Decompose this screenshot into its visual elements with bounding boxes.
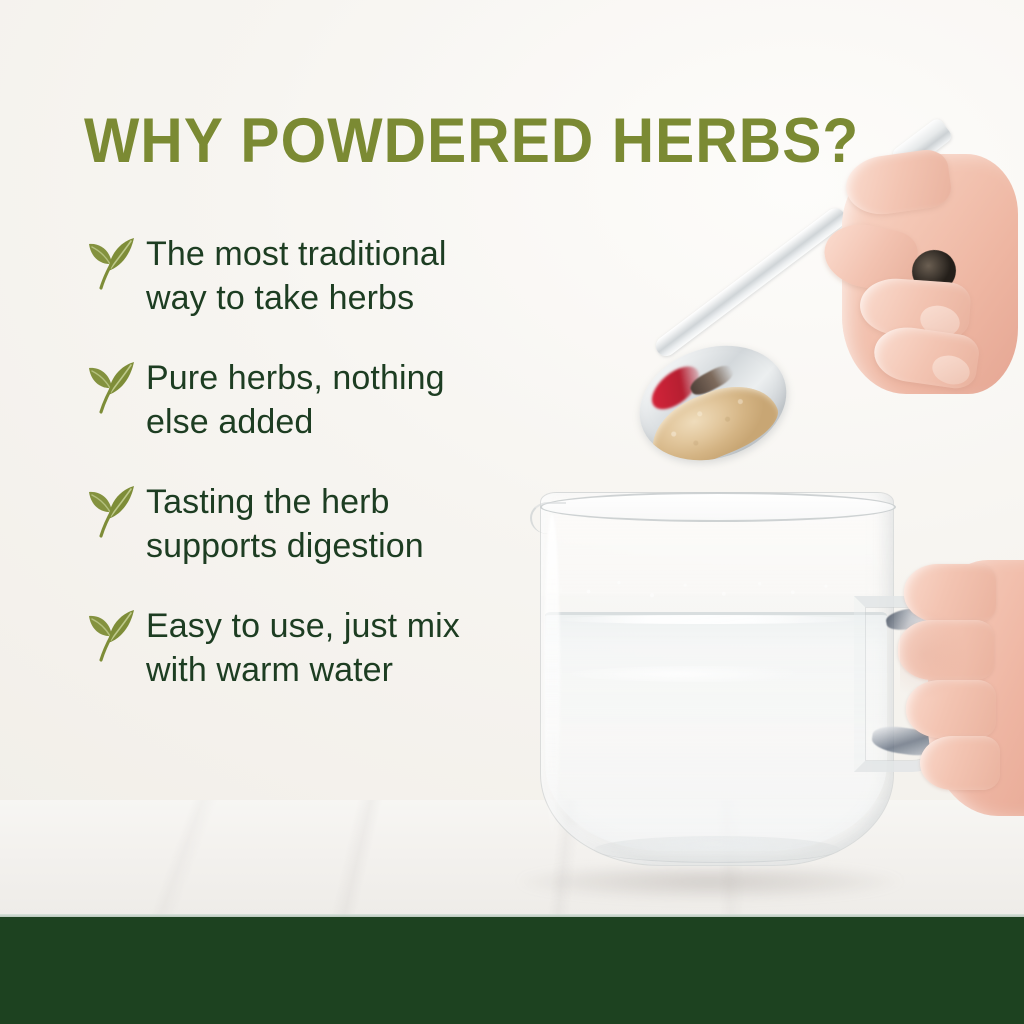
list-item-label: Easy to use, just mix with warm water — [146, 604, 506, 692]
water-bubbles — [572, 570, 848, 606]
hand-holding-mug — [900, 534, 1024, 834]
page-title: WHY POWDERED HERBS? — [84, 108, 859, 174]
leaf-sprout-icon — [84, 234, 146, 292]
benefits-list: The most traditional way to take herbs P… — [84, 232, 514, 692]
water-ripple — [570, 666, 840, 682]
water-surface-highlight — [558, 615, 858, 624]
list-item: Easy to use, just mix with warm water — [84, 604, 514, 692]
list-item: Pure herbs, nothing else added — [84, 356, 514, 444]
list-item-label: Pure herbs, nothing else added — [146, 356, 506, 444]
glass-mug — [534, 484, 930, 884]
leaf-sprout-icon — [84, 358, 146, 416]
leaf-sprout-icon — [84, 606, 146, 664]
mug-hand-shading — [900, 534, 1024, 834]
list-item: The most traditional way to take herbs — [84, 232, 514, 320]
list-item: Tasting the herb supports digestion — [84, 480, 514, 568]
list-item-label: The most traditional way to take herbs — [146, 232, 506, 320]
spoon-bowl — [625, 328, 802, 479]
leaf-sprout-icon — [84, 482, 146, 540]
mug-water — [545, 612, 887, 851]
list-item-label: Tasting the herb supports digestion — [146, 480, 506, 568]
mug-left-highlight — [544, 514, 560, 834]
bottom-brand-bar — [0, 917, 1024, 1024]
infographic-canvas: WHY POWDERED HERBS? The most traditional… — [0, 0, 1024, 1024]
spoon-and-hand — [616, 120, 1024, 520]
mug-base — [594, 836, 840, 863]
